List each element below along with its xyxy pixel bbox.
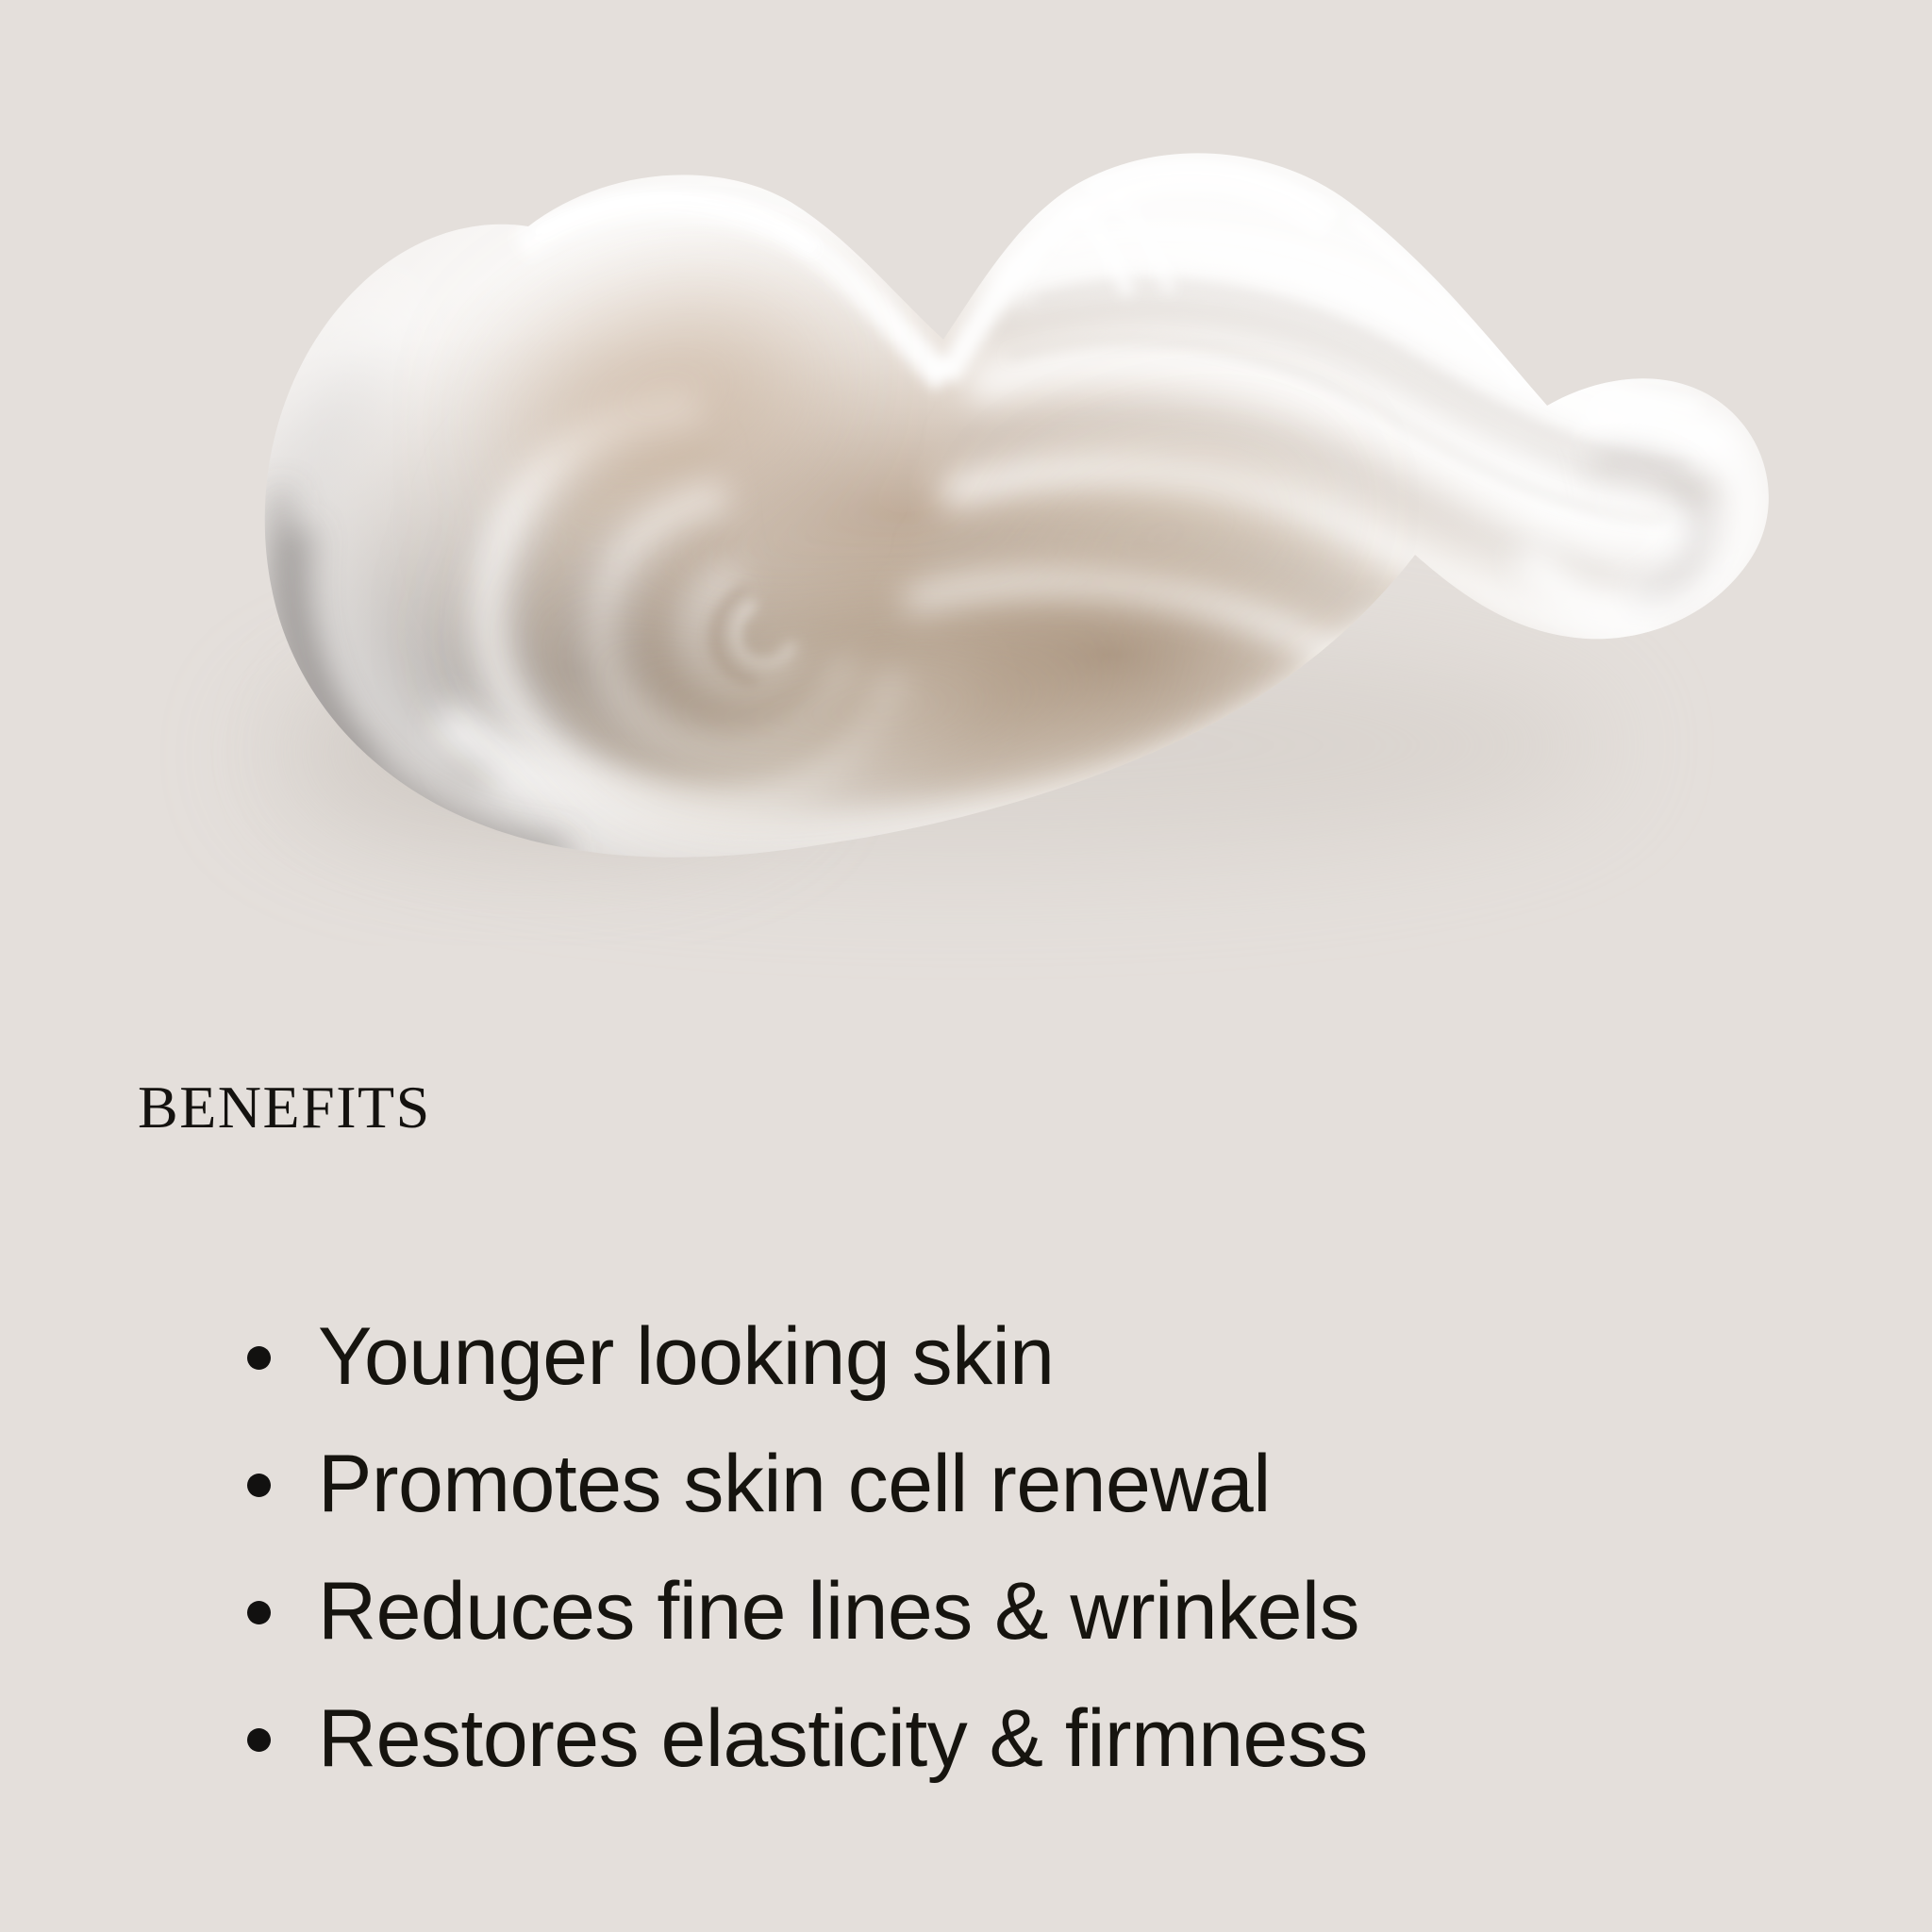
list-item: Restores elasticity & firmness [247, 1674, 1368, 1802]
bullet-dot-icon [247, 1474, 271, 1497]
benefits-section: BENEFITS Younger looking skin Promotes s… [0, 1019, 1932, 1932]
benefit-label: Reduces fine lines & wrinkels [318, 1571, 1359, 1652]
list-item: Promotes skin cell renewal [247, 1420, 1368, 1547]
bullet-dot-icon [247, 1346, 271, 1370]
cream-swirl-illustration [0, 0, 1932, 1019]
benefit-label: Promotes skin cell renewal [318, 1443, 1271, 1524]
bullet-dot-icon [247, 1601, 271, 1624]
benefit-label: Restores elasticity & firmness [318, 1698, 1368, 1779]
cream-swirl-hero [0, 0, 1932, 1019]
benefits-list: Younger looking skin Promotes skin cell … [247, 1292, 1368, 1802]
list-item: Younger looking skin [247, 1292, 1368, 1420]
list-item: Reduces fine lines & wrinkels [247, 1547, 1368, 1674]
section-heading-benefits: BENEFITS [138, 1077, 431, 1138]
product-benefits-page: BENEFITS Younger looking skin Promotes s… [0, 0, 1932, 1932]
benefit-label: Younger looking skin [318, 1316, 1055, 1397]
bullet-dot-icon [247, 1728, 271, 1752]
